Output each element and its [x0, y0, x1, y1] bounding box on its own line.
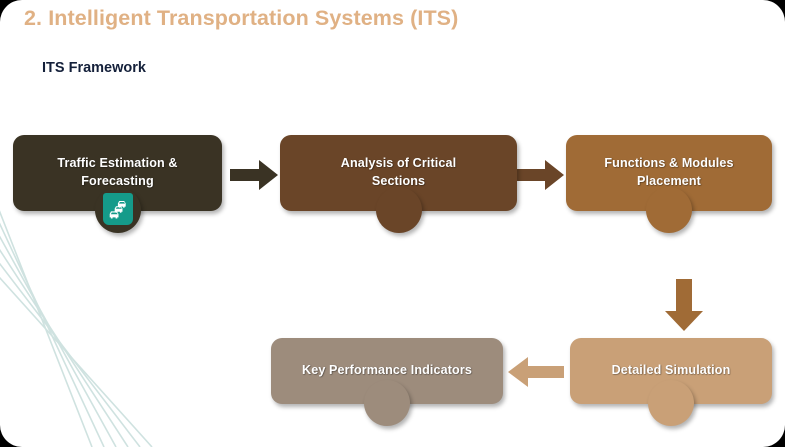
traffic-icon-glyph	[106, 197, 130, 221]
flow-box-label: Traffic Estimation & Forecasting	[57, 155, 177, 191]
flow-box-badge	[648, 380, 694, 426]
flow-box-badge	[646, 187, 692, 233]
arrow-down-1	[663, 279, 705, 331]
arrow-right-1	[230, 158, 278, 192]
flow-box-analysis-of-critical-sections[interactable]: Analysis of Critical Sections	[280, 135, 517, 211]
flow-box-label: Analysis of Critical Sections	[341, 155, 456, 191]
traffic-icon	[103, 193, 133, 225]
flow-box-label-line1: Analysis of Critical	[341, 156, 456, 170]
page-title: 2. Intelligent Transportation Systems (I…	[24, 6, 458, 31]
section-subtitle: ITS Framework	[42, 60, 146, 76]
flow-box-label-line1: Traffic Estimation &	[57, 156, 177, 170]
flow-box-label-line1: Detailed Simulation	[612, 363, 731, 377]
flow-box-label-line1: Key Performance Indicators	[302, 363, 472, 377]
flow-box-label-line2: Sections	[372, 174, 425, 188]
flow-box-badge	[364, 380, 410, 426]
flow-box-label-line1: Functions & Modules	[604, 156, 733, 170]
flow-box-label-line2: Forecasting	[81, 174, 153, 188]
flow-box-traffic-estimation-forecasting[interactable]: Traffic Estimation & Forecasting	[13, 135, 222, 211]
flow-box-functions-modules-placement[interactable]: Functions & Modules Placement	[566, 135, 772, 211]
flow-box-detailed-simulation[interactable]: Detailed Simulation	[570, 338, 772, 404]
flow-box-badge	[376, 187, 422, 233]
arrow-right-2	[516, 158, 564, 192]
flow-box-label-line2: Placement	[637, 174, 701, 188]
flow-box-label: Key Performance Indicators	[302, 362, 472, 380]
flow-box-label: Detailed Simulation	[612, 362, 731, 380]
slide-canvas: 2. Intelligent Transportation Systems (I…	[0, 0, 785, 447]
flow-box-label: Functions & Modules Placement	[604, 155, 733, 191]
arrow-left-1	[508, 355, 564, 389]
flow-box-key-performance-indicators[interactable]: Key Performance Indicators	[271, 338, 503, 404]
